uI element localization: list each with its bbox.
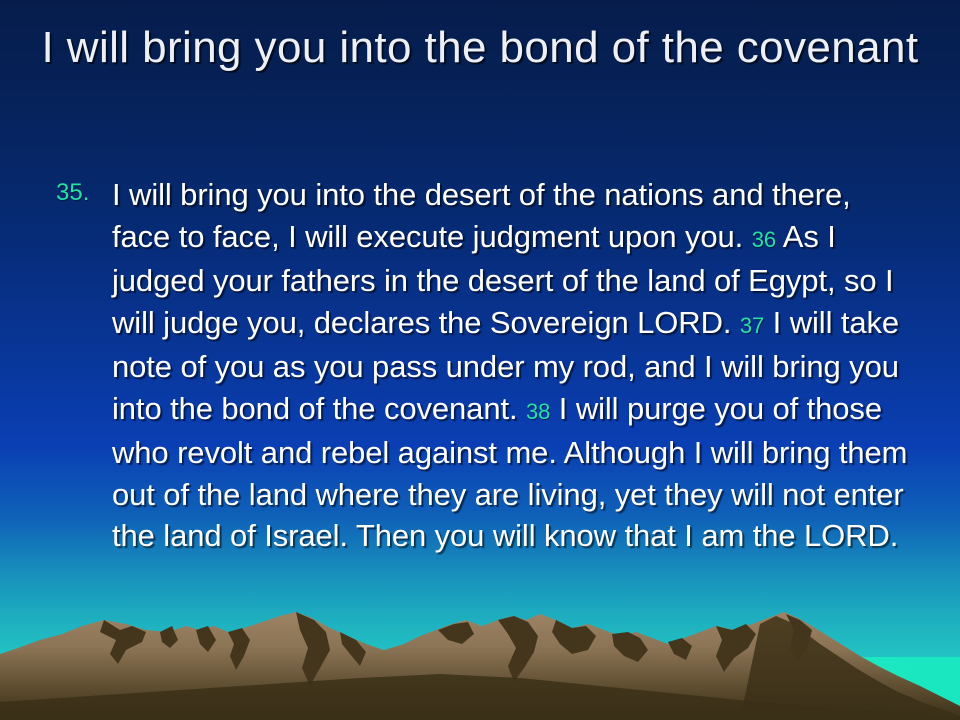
verse-number: 38 [526, 399, 550, 424]
verse-list-item: 35. I will bring you into the desert of … [56, 174, 912, 557]
slide-body: 35. I will bring you into the desert of … [56, 174, 912, 557]
verse-list: 35. I will bring you into the desert of … [56, 174, 912, 557]
verse-list-marker: 35. [56, 178, 89, 208]
verse-number: 36 [752, 227, 776, 252]
mountain-range-graphic [0, 610, 960, 720]
slide-title: I will bring you into the bond of the co… [40, 22, 920, 73]
verse-number: 37 [740, 313, 764, 338]
presentation-slide: I will bring you into the bond of the co… [0, 0, 960, 720]
verse-passage-text: I will bring you into the desert of the … [112, 177, 907, 553]
